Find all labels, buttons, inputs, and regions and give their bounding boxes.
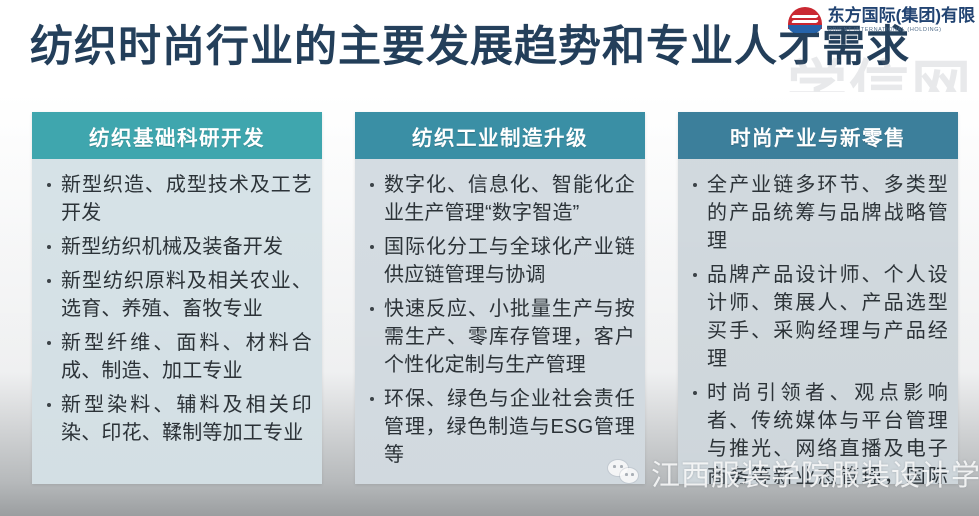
list-item: 新型纤维、面料、材料合成、制造、加工专业 — [44, 329, 312, 385]
card-body-research: 新型织造、成型技术及工艺开发 新型纺织机械及装备开发 新型纺织原料及相关农业、选… — [32, 159, 322, 484]
orient-sunrise-waves-icon — [788, 6, 822, 34]
card-manufacturing: 纺织工业制造升级 数字化、信息化、智能化企业生产管理“数字智造” 国际化分工与全… — [355, 112, 645, 484]
card-header-fashion-retail: 时尚产业与新零售 — [678, 112, 958, 159]
list-item: 新型纺织原料及相关农业、选育、养殖、畜牧专业 — [44, 267, 312, 323]
list-item: 快速反应、小批量生产与按需生产、零库存管理，客户个性化定制与生产管理 — [367, 295, 635, 379]
bullet-list-manufacturing: 数字化、信息化、智能化企业生产管理“数字智造” 国际化分工与全球化产业链供应链管… — [367, 171, 635, 469]
company-logo: 东方国际(集团)有限 ORIENT INTERNATIONAL (HOLDING… — [788, 6, 975, 34]
list-item: 环保、绿色与企业社会责任管理，绿色制造与ESG管理等 — [367, 385, 635, 469]
logo-name-cn: 东方国际(集团)有限 — [828, 7, 975, 25]
card-body-manufacturing: 数字化、信息化、智能化企业生产管理“数字智造” 国际化分工与全球化产业链供应链管… — [355, 159, 645, 484]
list-item: 新型染料、辅料及相关印染、印花、鞣制等加工专业 — [44, 391, 312, 447]
list-item: 时尚引领者、观点影响者、传统媒体与平台管理与推光、网络直播及电子商务等新业态管理… — [690, 379, 948, 484]
bullet-list-fashion-retail: 全产业链多环节、多类型的产品统筹与品牌战略管理 品牌产品设计师、个人设计师、策展… — [690, 171, 948, 484]
title-band: 纺织时尚行业的主要发展趋势和专业人才需求 东方国际(集团)有限 ORIENT I… — [0, 0, 979, 92]
three-column-cards: 纺织基础科研开发 新型织造、成型技术及工艺开发 新型纺织机械及装备开发 新型纺织… — [0, 92, 979, 516]
list-item: 数字化、信息化、智能化企业生产管理“数字智造” — [367, 171, 635, 227]
list-item: 国际化分工与全球化产业链供应链管理与协调 — [367, 233, 635, 289]
list-item: 全产业链多环节、多类型的产品统筹与品牌战略管理 — [690, 171, 948, 255]
card-fashion-retail: 时尚产业与新零售 全产业链多环节、多类型的产品统筹与品牌战略管理 品牌产品设计师… — [678, 112, 958, 484]
bullet-list-research: 新型织造、成型技术及工艺开发 新型纺织机械及装备开发 新型纺织原料及相关农业、选… — [44, 171, 312, 447]
list-item: 品牌产品设计师、个人设计师、策展人、产品选型买手、采购经理与产品经理 — [690, 261, 948, 373]
card-header-research: 纺织基础科研开发 — [32, 112, 322, 159]
card-body-fashion-retail: 全产业链多环节、多类型的产品统筹与品牌战略管理 品牌产品设计师、个人设计师、策展… — [678, 159, 958, 484]
logo-name-en: ORIENT INTERNATIONAL (HOLDING) — [828, 27, 975, 33]
card-research: 纺织基础科研开发 新型织造、成型技术及工艺开发 新型纺织机械及装备开发 新型纺织… — [32, 112, 322, 484]
list-item: 新型织造、成型技术及工艺开发 — [44, 171, 312, 227]
slide-canvas: 纺织时尚行业的主要发展趋势和专业人才需求 东方国际(集团)有限 ORIENT I… — [0, 0, 979, 516]
slide-body: 纺织基础科研开发 新型织造、成型技术及工艺开发 新型纺织机械及装备开发 新型纺织… — [0, 92, 979, 516]
card-header-manufacturing: 纺织工业制造升级 — [355, 112, 645, 159]
list-item: 新型纺织机械及装备开发 — [44, 233, 312, 261]
page-title: 纺织时尚行业的主要发展趋势和专业人才需求 — [30, 12, 910, 74]
